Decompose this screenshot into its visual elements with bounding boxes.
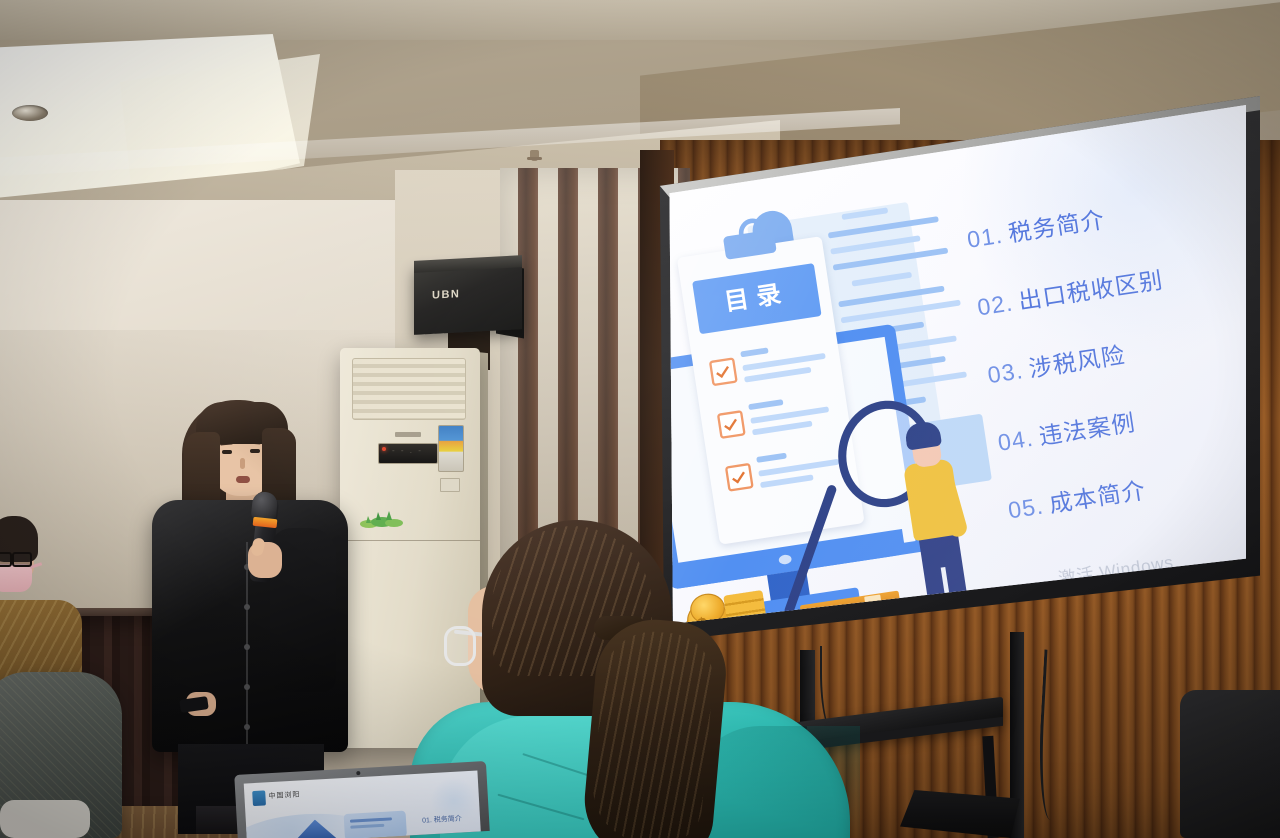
eyeglasses-icon <box>444 626 476 666</box>
eyeglasses-icon <box>0 552 32 564</box>
checkbox-checked-icon <box>725 463 754 492</box>
presenter-nose <box>240 458 245 469</box>
shirt-button <box>244 604 250 610</box>
conference-room-photo: UBN - - . - <box>0 0 1280 838</box>
conference-chair <box>1180 690 1280 838</box>
air-conditioner-grille <box>352 358 466 420</box>
face-mask-icon <box>0 564 32 592</box>
agenda-item-text: 成本简介 <box>1048 478 1148 518</box>
presenter-eye <box>250 449 260 453</box>
slide-agenda-list: 01.税务简介 02.出口税收区别 03.涉税风险 04.违法案例 05.成本简… <box>965 182 1246 560</box>
foreground-attendee <box>440 520 860 838</box>
downlight-icon <box>12 105 48 121</box>
laptop-slide-logo-emblem <box>252 790 266 806</box>
shirt-button <box>244 684 250 690</box>
agenda-item-number: 03. <box>986 358 1025 389</box>
sprinkler-head-icon <box>530 150 539 161</box>
shirt-button <box>244 644 250 650</box>
power-led-icon <box>382 447 386 451</box>
attendee-ponytail-sheen <box>589 628 717 838</box>
laptop-slide-title: 01. 税务简介 <box>422 813 462 825</box>
agenda-item: 02.出口税收区别 <box>975 249 1244 322</box>
agenda-item-text: 出口税收区别 <box>1017 268 1165 315</box>
shirt-button <box>244 724 250 730</box>
agenda-item: 04.违法案例 <box>995 385 1246 458</box>
agenda-item-text: 税务简介 <box>1007 208 1107 248</box>
checkbox-checked-icon <box>709 357 738 386</box>
presenter-eye <box>222 450 232 454</box>
agenda-item-number: 04. <box>996 426 1035 457</box>
agenda-item-number: 05. <box>1007 494 1046 525</box>
air-conditioner-brandmark <box>395 432 421 437</box>
agenda-item-text: 违法案例 <box>1037 411 1137 451</box>
energy-rating-sticker <box>438 425 464 472</box>
agenda-item: 03.涉税风险 <box>985 317 1246 390</box>
laptop-computer[interactable]: 中国浏阳 01. 税务简介 <box>234 761 490 838</box>
laptop-screen: 中国浏阳 01. 税务简介 <box>244 771 481 838</box>
laptop-slide-logo-text: 中国浏阳 <box>268 789 301 801</box>
agenda-item-text: 涉税风险 <box>1027 343 1127 383</box>
presenter-mouth <box>236 476 250 483</box>
agenda-item-number: 02. <box>976 291 1015 322</box>
agenda-item: 05.成本简介 <box>1006 452 1246 525</box>
agenda-item-number: 01. <box>966 223 1005 254</box>
product-sticker <box>440 478 460 492</box>
grass-decal-icon <box>360 508 406 530</box>
air-conditioner-display-digits: - - . - <box>392 446 423 455</box>
chair-base <box>0 800 90 838</box>
checkbox-checked-icon <box>717 410 746 439</box>
